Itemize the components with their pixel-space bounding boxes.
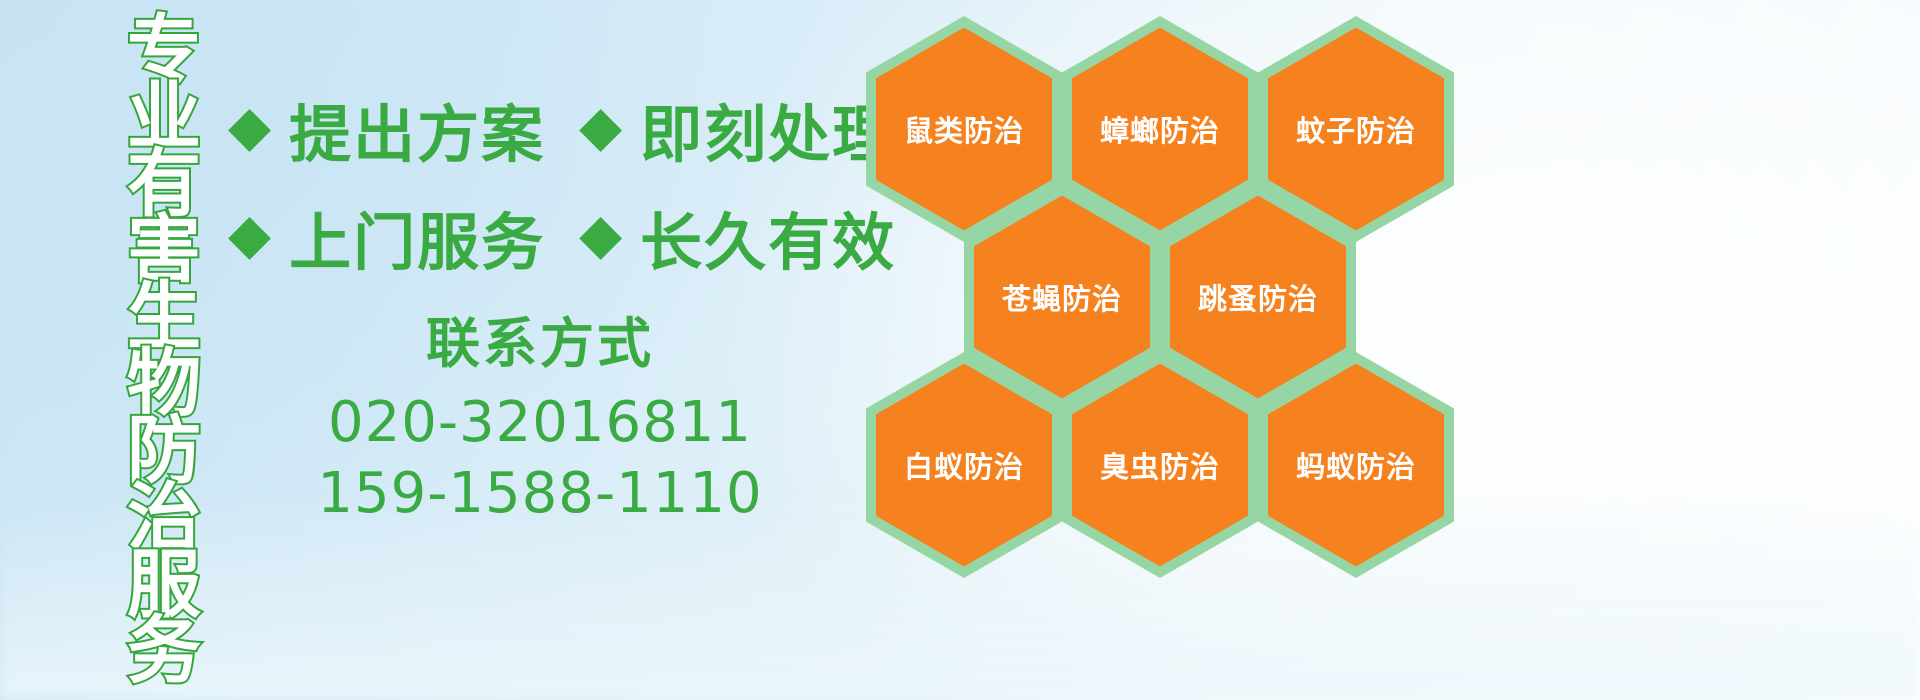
contact-title: 联系方式 — [300, 316, 780, 373]
diamond-bullet-icon: ◆ — [228, 207, 271, 263]
service-label: 蟑螂防治 — [1100, 108, 1220, 150]
feature-label: 长久有效 — [640, 192, 896, 282]
service-hex-fill: 白蚁防治 — [876, 364, 1052, 567]
service-label: 蚂蚁防治 — [1296, 444, 1416, 486]
service-honeycomb: 鼠类防治 蟑螂防治 蚊子防治 苍蝇防治 跳蚤防治 白蚁防治 — [866, 2, 1446, 562]
service-hex-fill: 臭虫防治 — [1072, 364, 1248, 567]
feature-label: 即刻处理 — [640, 84, 896, 174]
service-hex-fill: 鼠类防治 — [876, 28, 1052, 231]
service-label: 鼠类防治 — [904, 108, 1024, 150]
diamond-bullet-icon: ◆ — [579, 99, 622, 155]
feature-item: ◆ 提出方案 — [228, 84, 545, 174]
service-label: 苍蝇防治 — [1002, 276, 1122, 318]
feature-label: 提出方案 — [289, 84, 545, 174]
service-hex-fill: 蟑螂防治 — [1072, 28, 1248, 231]
service-hex-fill: 苍蝇防治 — [974, 196, 1150, 399]
feature-item: ◆ 即刻处理 — [579, 84, 896, 174]
service-label: 臭虫防治 — [1100, 444, 1220, 486]
feature-item: ◆ 长久有效 — [579, 192, 896, 282]
vertical-title-char: 务 — [127, 617, 201, 686]
banner-canvas: 专 业 有 害 生 物 防 治 服 务 ◆ 提出方案 ◆ 即刻处理 ◆ 上门服务… — [0, 0, 1920, 700]
feature-row-1: ◆ 提出方案 ◆ 即刻处理 — [228, 84, 896, 174]
contact-block: 联系方式 020-32016811 159-1588-1110 — [300, 316, 780, 530]
service-hex-fill: 蚂蚁防治 — [1268, 364, 1444, 567]
feature-label: 上门服务 — [289, 192, 545, 282]
service-label: 蚊子防治 — [1296, 108, 1416, 150]
diamond-bullet-icon: ◆ — [228, 99, 271, 155]
diamond-bullet-icon: ◆ — [579, 207, 622, 263]
service-label: 跳蚤防治 — [1198, 276, 1318, 318]
service-hex-fill: 蚊子防治 — [1268, 28, 1444, 231]
feature-row-2: ◆ 上门服务 ◆ 长久有效 — [228, 192, 896, 282]
feature-item: ◆ 上门服务 — [228, 192, 545, 282]
service-label: 白蚁防治 — [904, 444, 1024, 486]
phone-number-landline[interactable]: 020-32016811 — [300, 387, 780, 459]
phone-number-mobile[interactable]: 159-1588-1110 — [300, 458, 780, 530]
vertical-title: 专 业 有 害 生 物 防 治 服 务 — [112, 16, 216, 684]
service-hex-fill: 跳蚤防治 — [1170, 196, 1346, 399]
